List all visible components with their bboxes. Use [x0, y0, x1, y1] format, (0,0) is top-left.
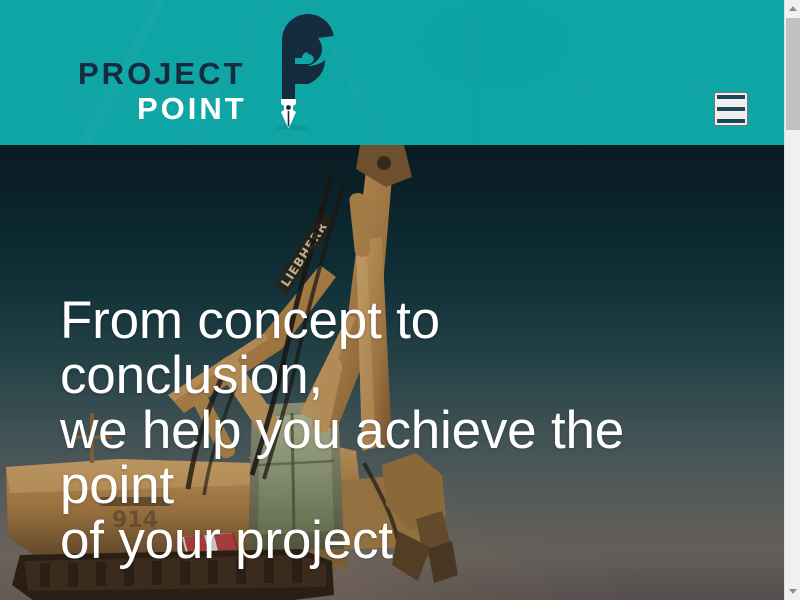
hamburger-menu-button[interactable] [714, 92, 748, 126]
hamburger-bar-2 [717, 107, 745, 111]
page-root: PROJECT POINT [0, 0, 800, 600]
scroll-down-button[interactable] [785, 583, 800, 600]
site-logo[interactable]: PROJECT POINT [78, 14, 338, 130]
triangle-up-icon [789, 6, 797, 11]
browser-viewport: PROJECT POINT [0, 0, 784, 600]
logo-word-project: PROJECT [78, 58, 245, 89]
scrollbar-thumb[interactable] [786, 18, 800, 130]
vertical-scrollbar[interactable] [784, 0, 800, 600]
hamburger-bar-1 [717, 95, 745, 99]
pen-nib-p-logo-icon [260, 14, 340, 130]
hamburger-bar-3 [717, 119, 745, 123]
hero-copy: From concept to conclusion, we help you … [60, 293, 760, 568]
scroll-up-button[interactable] [785, 0, 800, 17]
triangle-down-icon [789, 589, 797, 594]
logo-word-point: POINT [137, 93, 247, 124]
site-header: PROJECT POINT [0, 0, 784, 145]
hero-section: 914 LIEBHERR [0, 145, 784, 600]
hero-headline: From concept to conclusion, we help you … [60, 293, 760, 568]
